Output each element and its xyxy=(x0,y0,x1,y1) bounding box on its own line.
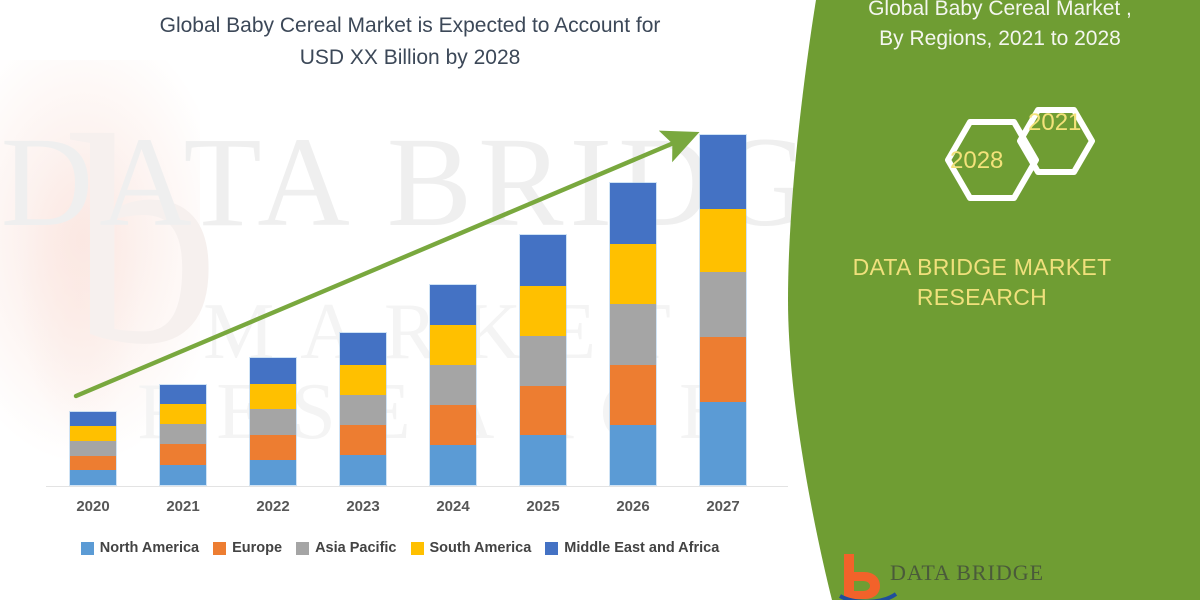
bar-2024[interactable] xyxy=(430,285,476,485)
bar-segment xyxy=(250,460,296,485)
bar-segment xyxy=(70,470,116,485)
bar-segment xyxy=(340,425,386,455)
bar-segment xyxy=(70,456,116,471)
legend-item[interactable]: Middle East and Africa xyxy=(545,540,719,556)
bar-2025[interactable] xyxy=(520,235,566,485)
x-axis-label-2023: 2023 xyxy=(318,498,408,515)
x-axis-labels: 20202021202220232024202520262027 xyxy=(0,498,800,526)
bar-segment xyxy=(520,235,566,286)
bar-segment xyxy=(340,333,386,365)
panel-title: Global Baby Cereal Market , By Regions, … xyxy=(800,0,1200,54)
legend-swatch xyxy=(411,542,424,555)
bar-2026[interactable] xyxy=(610,183,656,485)
bar-2022[interactable] xyxy=(250,358,296,485)
plot-area: 20202021202220232024202520262027 North A… xyxy=(0,0,800,600)
bar-segment xyxy=(70,426,116,441)
brand-line1: DATA BRIDGE MARKET xyxy=(782,252,1182,282)
bar-segment xyxy=(430,445,476,485)
bar-segment xyxy=(520,336,566,386)
bar-segment xyxy=(70,441,116,456)
bar-segment xyxy=(610,425,656,485)
bar-segment xyxy=(520,435,566,485)
brand-name: DATA BRIDGE MARKET RESEARCH xyxy=(782,252,1182,312)
bar-segment xyxy=(160,465,206,485)
data-bridge-logo: DATA BRIDGE xyxy=(838,552,1098,600)
legend-swatch xyxy=(81,542,94,555)
legend-swatch xyxy=(213,542,226,555)
x-axis-label-2025: 2025 xyxy=(498,498,588,515)
bar-segment xyxy=(520,286,566,336)
legend-item[interactable]: North America xyxy=(81,540,199,556)
bar-segment xyxy=(520,386,566,436)
bar-segment xyxy=(340,365,386,395)
bar-segment xyxy=(160,404,206,424)
hexagon-2021-label: 2021 xyxy=(1028,109,1081,137)
bar-segment xyxy=(250,435,296,460)
x-axis-label-2027: 2027 xyxy=(678,498,768,515)
x-axis-label-2020: 2020 xyxy=(48,498,138,515)
logo-text: DATA BRIDGE xyxy=(890,560,1044,586)
bar-segment xyxy=(160,424,206,444)
hexagon-2028-label: 2028 xyxy=(950,147,1003,175)
bar-segment xyxy=(250,409,296,434)
bar-segment xyxy=(160,444,206,464)
bar-segment xyxy=(250,384,296,409)
panel-title-line2: By Regions, 2021 to 2028 xyxy=(800,24,1200,54)
bar-segment xyxy=(430,405,476,445)
chart-legend: North AmericaEuropeAsia PacificSouth Ame… xyxy=(0,540,800,556)
legend-swatch xyxy=(545,542,558,555)
bar-segment xyxy=(250,358,296,384)
legend-item[interactable]: Asia Pacific xyxy=(296,540,396,556)
bar-segment xyxy=(340,395,386,425)
bar-segment xyxy=(430,285,476,326)
bar-2027[interactable] xyxy=(700,135,746,485)
bar-segment xyxy=(700,135,746,209)
legend-swatch xyxy=(296,542,309,555)
bar-segment xyxy=(70,412,116,427)
x-axis-label-2026: 2026 xyxy=(588,498,678,515)
chart-canvas: b DATA BRIDGE MARKET RESEARCH Global Bab… xyxy=(0,0,1200,600)
axis-baseline xyxy=(46,486,788,487)
legend-item[interactable]: Europe xyxy=(213,540,282,556)
bar-segment xyxy=(340,455,386,485)
bar-segment xyxy=(430,365,476,405)
legend-item[interactable]: South America xyxy=(411,540,532,556)
bar-segment xyxy=(700,337,746,401)
bar-segment xyxy=(610,365,656,425)
bar-segment xyxy=(430,325,476,365)
bar-2020[interactable] xyxy=(70,412,116,485)
bar-segment xyxy=(700,209,746,272)
legend-label: Europe xyxy=(232,540,282,556)
bar-segment xyxy=(700,272,746,337)
bar-2023[interactable] xyxy=(340,333,386,485)
bar-segment xyxy=(610,183,656,244)
legend-label: South America xyxy=(430,540,532,556)
bar-segment xyxy=(700,402,746,485)
hexagon-badges: 2028 2021 xyxy=(928,95,1128,225)
legend-label: North America xyxy=(100,540,199,556)
brand-line2: RESEARCH xyxy=(782,282,1182,312)
legend-label: Middle East and Africa xyxy=(564,540,719,556)
logo-b-mark xyxy=(838,552,898,600)
legend-label: Asia Pacific xyxy=(315,540,396,556)
panel-title-line1: Global Baby Cereal Market , xyxy=(800,0,1200,24)
x-axis-label-2021: 2021 xyxy=(138,498,228,515)
bar-segment xyxy=(610,304,656,364)
x-axis-label-2024: 2024 xyxy=(408,498,498,515)
x-axis-label-2022: 2022 xyxy=(228,498,318,515)
bar-2021[interactable] xyxy=(160,385,206,485)
bar-segment xyxy=(160,385,206,404)
bar-segment xyxy=(610,244,656,304)
